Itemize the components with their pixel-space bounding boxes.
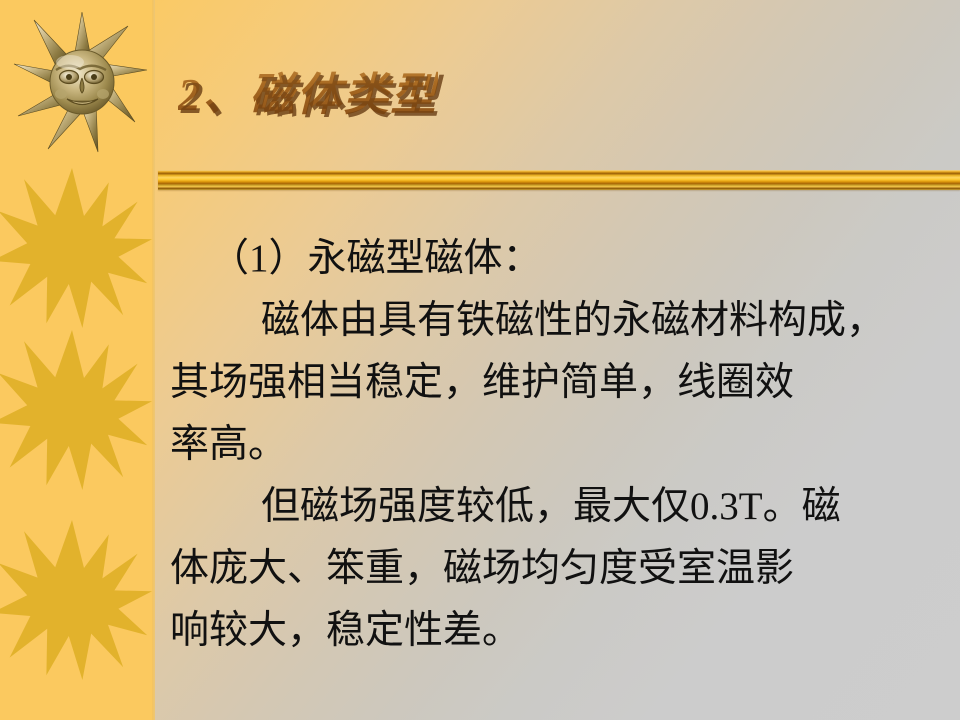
body-line: 但磁场强度较低，最大仅0.3T。磁 [170, 476, 960, 538]
sun-silhouette-icon [0, 168, 152, 328]
body-heading: （1）永磁型磁体： [170, 228, 960, 290]
body-line: 率高。 [170, 414, 960, 476]
sun-silhouette-icon [0, 520, 152, 680]
slide-title: 2、磁体类型 [178, 58, 438, 123]
sun-face-medallion-icon [12, 6, 152, 158]
slide-canvas: 2、磁体类型 2、磁体类型 （1）永磁型磁体： 磁体由具有铁磁性的永磁材料构成，… [0, 0, 960, 720]
body-line: 体庞大、笨重，磁场均匀度受室温影 [170, 538, 960, 600]
gold-divider-bar [158, 170, 960, 190]
sidebar-edge-divider [152, 0, 155, 720]
slide-body: （1）永磁型磁体： 磁体由具有铁磁性的永磁材料构成， 其场强相当稳定，维护简单，… [170, 228, 960, 662]
body-line: 磁体由具有铁磁性的永磁材料构成， [170, 290, 960, 352]
sun-silhouette-icon [0, 330, 152, 490]
body-line: 其场强相当稳定，维护简单，线圈效 [170, 352, 960, 414]
body-line: 响较大，稳定性差。 [170, 600, 960, 662]
